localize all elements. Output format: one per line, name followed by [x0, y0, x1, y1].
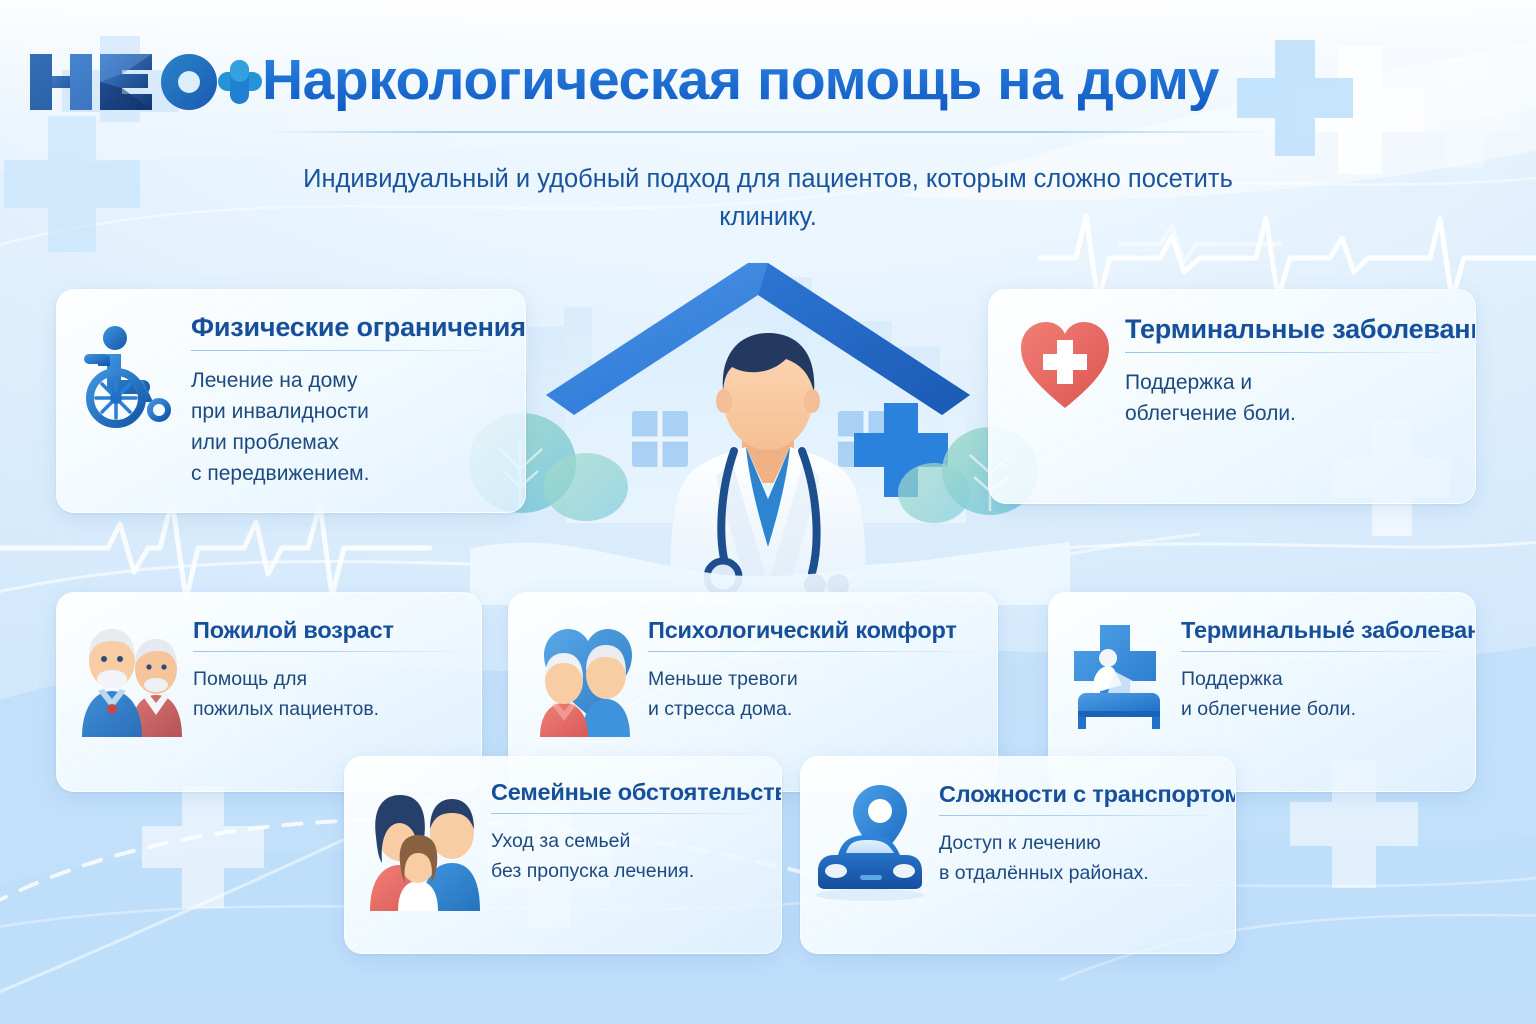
car-location-pin-icon — [815, 783, 933, 909]
page-title: Наркологическая помощь на дому — [262, 47, 1219, 113]
neo-plus-logo-icon — [22, 36, 262, 122]
card-description: Лечение на дому при инвалидности или про… — [191, 365, 505, 489]
card-transport-difficulties[interactable]: Сложности с транспортом Доступ к лечению… — [800, 756, 1236, 954]
heart-cross-icon — [1015, 318, 1115, 414]
elderly-couple-icon — [77, 619, 187, 737]
wheelchair-icon — [81, 318, 181, 428]
logo[interactable] — [22, 36, 262, 122]
card-title: Терминальные́ заболевания — [1181, 617, 1463, 644]
family-icon — [363, 781, 487, 911]
page-subtitle: Индивидуальный и удобный подход для паци… — [268, 160, 1268, 236]
card-description: Доступ к лечению в отдалённых районах. — [939, 828, 1221, 888]
card-description: Поддержка и облегчение боли. — [1181, 664, 1463, 724]
card-title: Сложности с транспортом — [939, 781, 1221, 808]
card-physical-limitations[interactable]: Физические ограничения Лечение на дому п… — [56, 289, 526, 513]
two-people-heart-icon — [535, 619, 640, 737]
card-description: Поддержка и облегчение боли. — [1125, 367, 1457, 429]
card-title: Семейные обстоятельства — [491, 779, 767, 806]
card-title: Терминальные заболевания — [1125, 314, 1457, 345]
card-divider — [191, 350, 505, 351]
doctor-house-illustration — [470, 255, 1070, 605]
card-divider — [1181, 651, 1463, 652]
card-title: Пожилой возраст — [193, 617, 465, 644]
card-divider — [193, 651, 465, 652]
card-description: Меньше тревоги и стресса дома. — [648, 664, 981, 724]
card-title: Физические ограничения — [191, 312, 505, 343]
title-divider — [262, 131, 1272, 133]
infographic-canvas: Наркологическая помощь на дому Индивидуа… — [0, 0, 1536, 1024]
card-divider — [939, 815, 1221, 816]
card-divider — [491, 813, 767, 814]
header: Наркологическая помощь на дому Индивидуа… — [0, 0, 1536, 150]
card-description: Помощь для пожилых пациентов. — [193, 664, 465, 724]
hospital-bed-cross-icon — [1071, 619, 1175, 731]
card-divider — [1125, 352, 1457, 353]
card-terminal-illness-top[interactable]: Терминальные заболевания Поддержка и обл… — [988, 289, 1476, 504]
card-description: Уход за семьей без пропуска лечения. — [491, 826, 767, 886]
card-title: Психологический комфорт — [648, 617, 981, 644]
card-divider — [648, 651, 981, 652]
card-family-circumstances[interactable]: Семейные обстоятельства Уход за семьей б… — [344, 756, 782, 954]
